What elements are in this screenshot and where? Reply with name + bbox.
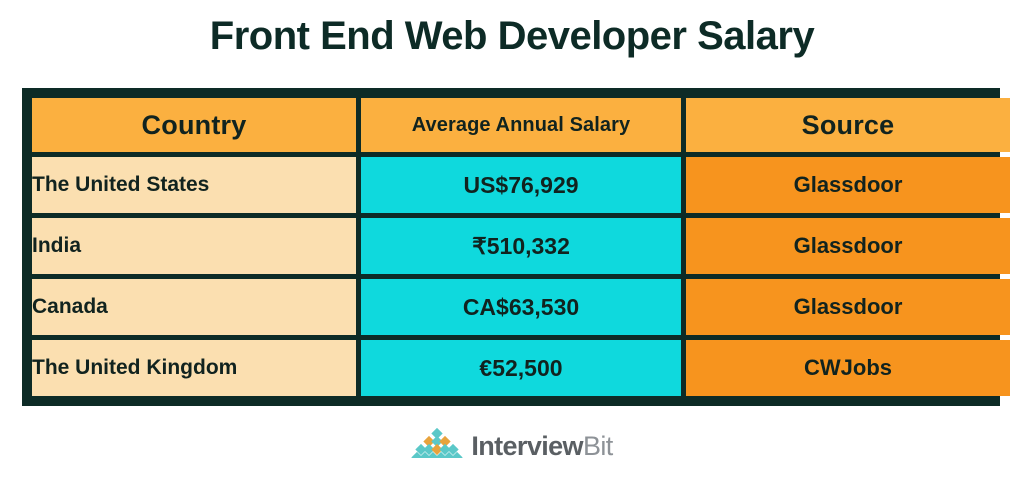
- column-header-source: Source: [686, 98, 1010, 152]
- cell-salary: CA$63,530: [361, 279, 681, 335]
- table-row: The United Kingdom €52,500 CWJobs: [32, 340, 1010, 396]
- cell-country: The United Kingdom: [32, 340, 356, 396]
- footer-branding: InterviewBit: [0, 428, 1024, 464]
- page-title: Front End Web Developer Salary: [0, 14, 1024, 59]
- column-header-country: Country: [32, 98, 356, 152]
- cell-country: Canada: [32, 279, 356, 335]
- cell-source: CWJobs: [686, 340, 1010, 396]
- column-header-average-annual-salary: Average Annual Salary: [361, 98, 681, 152]
- interviewbit-pyramid-logo-icon: [411, 428, 463, 464]
- table-row: India ₹510,332 Glassdoor: [32, 218, 1010, 274]
- cell-source: Glassdoor: [686, 279, 1010, 335]
- cell-source: Glassdoor: [686, 218, 1010, 274]
- brand-wordmark-secondary: Bit: [583, 431, 613, 461]
- brand-wordmark: InterviewBit: [471, 433, 612, 460]
- table-row: Canada CA$63,530 Glassdoor: [32, 279, 1010, 335]
- salary-table: Country Average Annual Salary Source The…: [27, 93, 1015, 401]
- cell-source: Glassdoor: [686, 157, 1010, 213]
- cell-country: The United States: [32, 157, 356, 213]
- cell-salary: €52,500: [361, 340, 681, 396]
- table-header-row: Country Average Annual Salary Source: [32, 98, 1010, 152]
- cell-country: India: [32, 218, 356, 274]
- brand-wordmark-primary: Interview: [471, 431, 583, 461]
- cell-salary: ₹510,332: [361, 218, 681, 274]
- salary-table-container: Country Average Annual Salary Source The…: [22, 88, 1000, 406]
- infographic-page: Front End Web Developer Salary Country A…: [0, 0, 1024, 477]
- cell-salary: US$76,929: [361, 157, 681, 213]
- table-row: The United States US$76,929 Glassdoor: [32, 157, 1010, 213]
